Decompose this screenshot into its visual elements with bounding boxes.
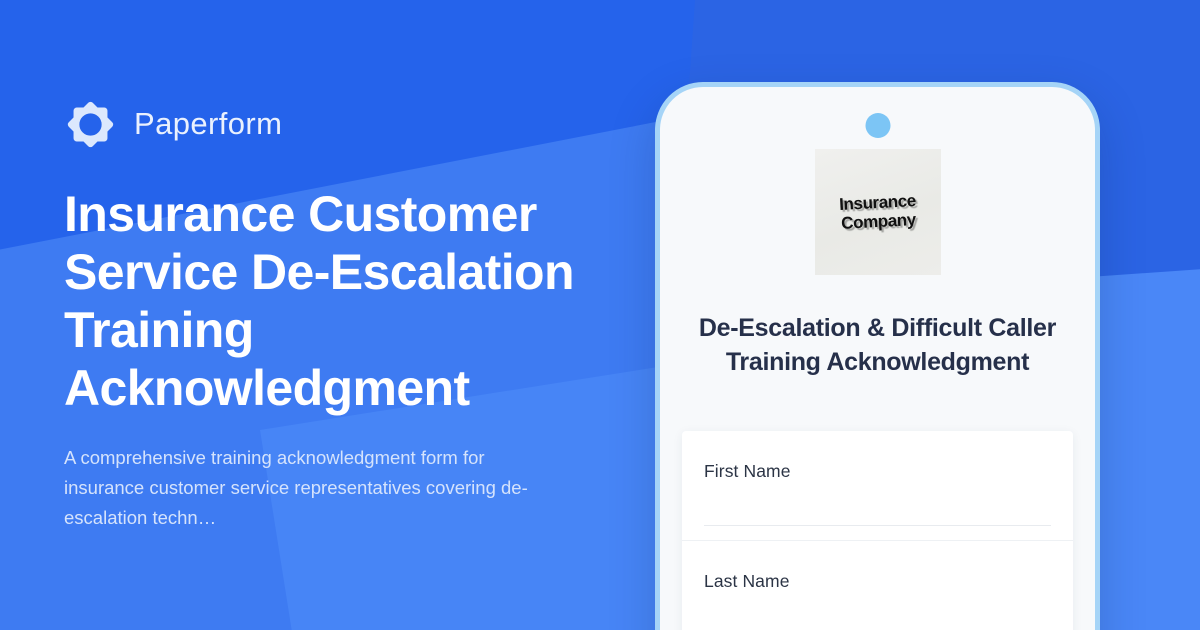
- form-field-last-name[interactable]: Last Name: [682, 540, 1073, 630]
- field-label-first-name: First Name: [704, 461, 1051, 482]
- phone-mockup: Insurance Company De-Escalation & Diffic…: [655, 82, 1100, 630]
- og-share-card: Paperform Insurance Customer Service De-…: [0, 0, 1200, 630]
- page-title: Insurance Customer Service De-Escalation…: [64, 185, 609, 417]
- field-label-last-name: Last Name: [704, 571, 1051, 592]
- form-field-first-name[interactable]: First Name: [682, 431, 1073, 526]
- hero-content: Paperform Insurance Customer Service De-…: [64, 0, 664, 630]
- form-logo-text: Insurance Company: [814, 190, 942, 235]
- brand-name: Paperform: [134, 106, 282, 142]
- first-name-input[interactable]: [704, 482, 1051, 526]
- form-fields-card: First Name Last Name: [682, 431, 1073, 630]
- brand-lockup: Paperform: [64, 98, 664, 151]
- camera-dot-icon: [865, 113, 890, 138]
- page-description: A comprehensive training acknowledgment …: [64, 443, 554, 533]
- form-title: De-Escalation & Difficult Caller Trainin…: [694, 311, 1061, 379]
- last-name-input[interactable]: [704, 592, 1051, 630]
- paperform-diamond-logo-icon: [64, 98, 117, 151]
- form-logo-image: Insurance Company: [815, 149, 941, 275]
